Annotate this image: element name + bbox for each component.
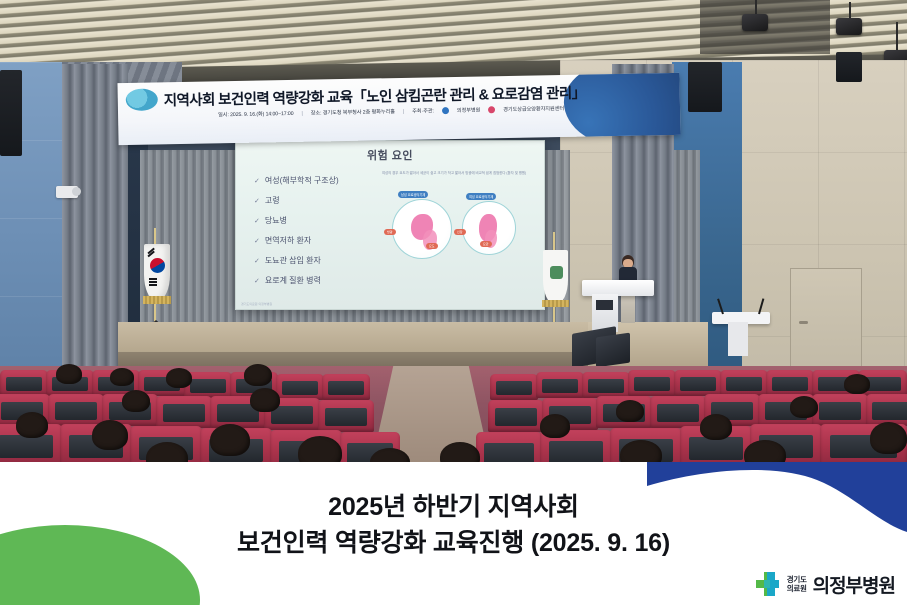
event-host-org-1: 의정부병원	[457, 107, 480, 114]
seat	[276, 374, 324, 400]
audience-head	[122, 390, 150, 412]
seat	[488, 400, 544, 432]
logo-sub-line-1: 경기도	[787, 575, 807, 584]
slide-figure-tag: 요도	[426, 243, 438, 249]
slide-figure-caption: 여성의 경우 요도가 짧아서 세균이 쉽고 크기가 작고 짧아서 방광에 비교적…	[380, 171, 528, 176]
page-title-line-1: 2025년 하반기 지역사회	[328, 493, 579, 521]
stage-monitor-speaker	[596, 333, 630, 368]
seat	[490, 374, 538, 400]
logo-subtext: 경기도 의료원	[787, 575, 807, 593]
slide-bullet: 요로계 질환 병력	[254, 275, 544, 286]
stage-light	[836, 2, 862, 18]
seat	[536, 372, 584, 398]
audience-head	[56, 364, 82, 384]
audience-head	[110, 368, 134, 386]
page-title: 2025년 하반기 지역사회 보건인력 역량강화 교육진행 (2025. 9. …	[0, 490, 907, 561]
audience-head	[744, 440, 786, 462]
audience-head	[790, 396, 818, 418]
audience-head	[844, 374, 870, 394]
anatomy-circle-male	[392, 199, 452, 259]
separator: |	[301, 110, 302, 116]
seat	[156, 396, 212, 428]
seat	[582, 372, 630, 398]
event-datetime: 일시: 2025. 9. 16.(화) 14:00~17:00	[218, 110, 294, 118]
audience-head	[440, 442, 480, 462]
hospital-logo: 경기도 의료원 의정부병원	[753, 570, 895, 598]
slide-figure-label-left: 남성 요로생식기계	[398, 191, 428, 198]
slide-figure-tag: 방광	[384, 229, 396, 235]
line-array-speaker	[836, 52, 862, 82]
slide-footer: 경기도의료원 의정부병원	[241, 302, 272, 306]
projection-screen: 위험 요인 여성(해부학적 구조상) 고령 당뇨병 면역저하 환자 도뇨관 삽입…	[235, 140, 545, 310]
audience-seating	[0, 366, 907, 462]
medical-cross-icon	[753, 570, 781, 598]
host-org-1-icon	[442, 107, 449, 114]
side-lectern-base	[728, 322, 748, 356]
ceiling-camera-icon	[56, 186, 78, 198]
audience-head	[250, 388, 280, 412]
host-org-2-icon	[488, 106, 495, 113]
logo-hospital-name: 의정부병원	[813, 571, 895, 598]
slide-title: 위험 요인	[236, 147, 544, 163]
audience-head	[298, 436, 342, 462]
seat	[650, 396, 706, 428]
event-banner: 지역사회 보건인력 역량강화 교육「노인 삼킴곤란 관리 & 요로감염 관리」 …	[117, 73, 680, 145]
slide-figure-tag: 신장	[454, 229, 466, 235]
page-root: 위험 요인 여성(해부학적 구조상) 고령 당뇨병 면역저하 환자 도뇨관 삽입…	[0, 0, 907, 605]
slide-figure-tag: 요관	[480, 241, 492, 247]
stage-light	[742, 0, 768, 14]
seat	[0, 370, 48, 396]
line-array-speaker	[688, 62, 722, 112]
seat	[720, 370, 768, 396]
line-array-speaker	[0, 70, 22, 156]
page-title-line-2: 보건인력 역량강화 교육진행 (2025. 9. 16)	[0, 526, 907, 562]
seat	[318, 400, 374, 432]
event-host-org-2: 경기도상급요양환자지원센터	[503, 105, 564, 113]
seat	[48, 394, 104, 426]
seat	[766, 370, 814, 396]
audience-head	[244, 364, 272, 386]
logo-sub-line-2: 의료원	[787, 584, 807, 593]
slide-figure-label-right: 여성 요로생식기계	[466, 193, 496, 200]
seat	[476, 432, 542, 462]
audience-head	[616, 400, 644, 422]
audience-head	[540, 414, 570, 438]
seat	[322, 374, 370, 400]
audience-head	[700, 414, 732, 440]
seat	[628, 370, 676, 396]
auditorium-photo: 위험 요인 여성(해부학적 구조상) 고령 당뇨병 면역저하 환자 도뇨관 삽입…	[0, 0, 907, 462]
cross-svg	[753, 570, 781, 598]
gyeonggi-province-flag	[540, 246, 570, 318]
banner-org-logo	[126, 88, 158, 111]
audience-head	[16, 412, 48, 438]
audience-head	[92, 420, 128, 450]
audience-head	[210, 424, 250, 456]
caption-banner: 2025년 하반기 지역사회 보건인력 역량강화 교육진행 (2025. 9. …	[0, 462, 907, 605]
audience-head	[620, 440, 662, 462]
lectern-monitor	[596, 300, 613, 310]
slide-anatomy-figure: 여성의 경우 요도가 짧아서 세균이 쉽고 크기가 작고 짧아서 방광에 비교적…	[384, 171, 534, 276]
audience-head	[870, 422, 907, 454]
event-venue: 장소: 경기도청 북부청사 2층 평화누리홀	[311, 108, 395, 117]
stage-light	[884, 22, 907, 50]
audience-head	[166, 368, 192, 388]
seat	[812, 394, 868, 426]
seat	[674, 370, 722, 396]
korean-flag	[140, 240, 172, 314]
separator: |	[403, 108, 404, 114]
event-host-label: 주최·주관:	[412, 107, 434, 114]
